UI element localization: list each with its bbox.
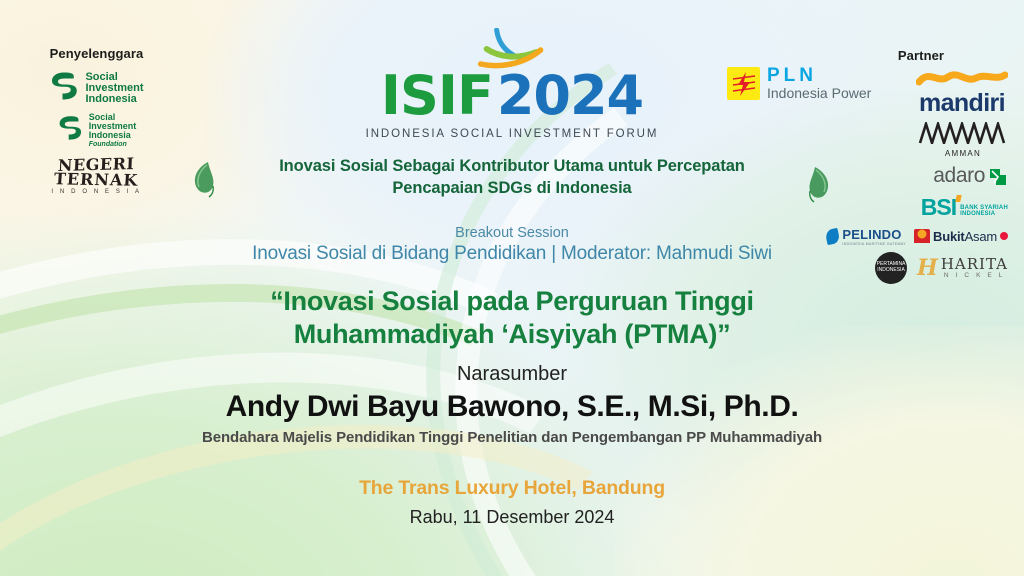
sii-line-3: Indonesia: [85, 94, 143, 105]
sii-wordmark: Social Investment Indonesia: [85, 72, 143, 106]
session-line: Inovasi Sosial di Bidang Pendidikan | Mo…: [0, 243, 1024, 265]
partners-heading: Partner: [826, 48, 1016, 63]
breakout-session-label: Breakout Session: [0, 224, 1024, 242]
sii-s-mark-icon: [49, 71, 79, 106]
isif-logo: ISIF 2024 INDONESIA SOCIAL INVESTMENT FO…: [366, 28, 659, 140]
event-theme-line-1: Inovasi Sosial Sebagai Kontributor Utama…: [0, 155, 1024, 177]
talk-title-line-2: Muhammadiyah ‘Aisyiyah (PTMA)”: [0, 318, 1024, 351]
isif-swoosh-icon: [366, 28, 659, 68]
event-venue: The Trans Luxury Hotel, Bandung: [0, 477, 1024, 500]
talk-title: “Inovasi Sosial pada Perguruan Tinggi Mu…: [0, 285, 1024, 352]
talk-title-line-1: “Inovasi Sosial pada Perguruan Tinggi: [0, 285, 1024, 318]
isif-text: ISIF: [381, 64, 493, 127]
logo-social-investment-indonesia: Social Investment Indonesia: [49, 71, 143, 106]
logo-amman: AMMAN: [918, 122, 1008, 158]
siif-wordmark: Social Investment Indonesia Foundation: [89, 113, 137, 148]
event-theme: Inovasi Sosial Sebagai Kontributor Utama…: [0, 155, 1024, 200]
pln-lightning-icon: [727, 67, 760, 100]
isif-wordmark: ISIF 2024: [366, 64, 659, 127]
event-date: Rabu, 11 Desember 2024: [0, 507, 1024, 528]
isif-tagline: INDONESIA SOCIAL INVESTMENT FORUM: [366, 128, 659, 140]
logo-mandiri: mandiri: [916, 71, 1008, 115]
organizers-heading: Penyelenggara: [14, 46, 179, 61]
speaker-role: Bendahara Majelis Pendidikan Tinggi Pene…: [0, 429, 1024, 446]
amman-zigzag-icon: [918, 122, 1008, 149]
mandiri-name: mandiri: [919, 92, 1005, 115]
logo-social-investment-indonesia-foundation: Social Investment Indonesia Foundation: [57, 113, 137, 148]
event-theme-line-2: Pencapaian SDGs di Indonesia: [0, 177, 1024, 199]
main-content: Inovasi Sosial Sebagai Kontributor Utama…: [0, 155, 1024, 528]
siif-foundation-label: Foundation: [89, 141, 137, 148]
isif-year: 2024: [497, 64, 643, 127]
siif-s-mark-icon: [57, 115, 83, 146]
speaker-label: Narasumber: [0, 363, 1024, 386]
siif-line-3: Indonesia: [89, 131, 137, 140]
speaker-name: Andy Dwi Bayu Bawono, S.E., M.Si, Ph.D.: [0, 390, 1024, 424]
